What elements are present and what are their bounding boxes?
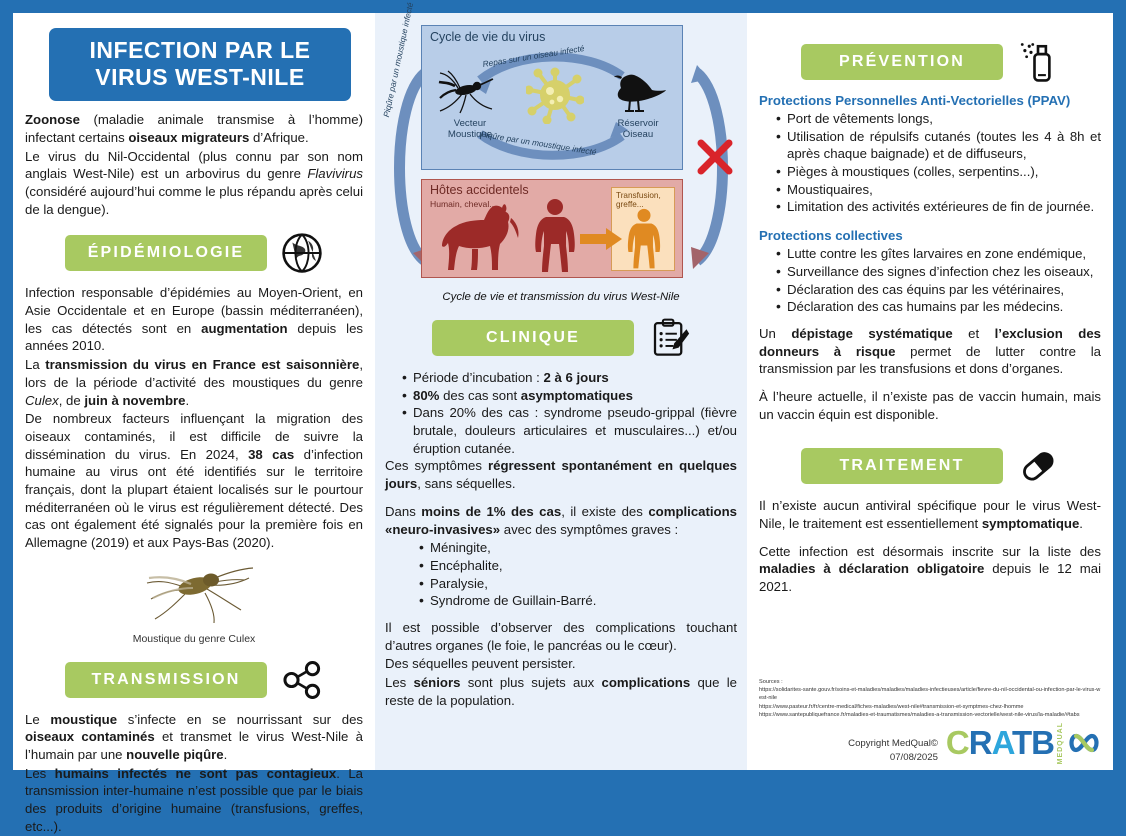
epidemiologie-paragraph-1: Infection responsable d’épidémies au Moy… <box>25 284 363 355</box>
complication-item: Syndrome de Guillain-Barré. <box>419 592 737 610</box>
epi-text-3: La <box>25 357 45 372</box>
collective-item: Surveillance des signes d’infection chez… <box>776 263 1101 281</box>
traitement-paragraph-2: Cette infection est désormais inscrite s… <box>759 543 1101 596</box>
tt-text-3: Cette infection est désormais inscrite s… <box>759 544 1101 559</box>
cl-text-5: Dans <box>385 504 421 519</box>
intro-birds-bold: oiseaux migrateurs <box>128 130 249 145</box>
intro-text-4: (considéré aujourd’hui comme le plus rép… <box>25 184 363 217</box>
cl-seniors-bold: séniors <box>414 675 461 690</box>
complication-item: Encéphalite, <box>419 557 737 575</box>
cl-complications-bold: complications <box>602 675 691 690</box>
epi-augmentation-bold: augmentation <box>201 321 287 336</box>
transfusion-label-line1: Transfusion, <box>616 191 661 200</box>
cl-text-3: Ces symptômes <box>385 458 488 473</box>
ppav-item: Pièges à moustiques (colles, serpentins.… <box>776 163 1101 181</box>
tr-piqure-bold: nouvelle piqûre <box>126 747 223 762</box>
spacer <box>759 216 1101 225</box>
cl-text-9: sont plus sujets aux <box>460 675 601 690</box>
complications-list: Méningite, Encéphalite, Paralysie, Syndr… <box>385 539 737 610</box>
clinique-paragraph-4: Des séquelles peuvent persister. <box>385 655 737 673</box>
right-column: PRÉVENTION Protections Personnelles Anti… <box>747 13 1113 770</box>
mosquito-silhouette-icon <box>436 68 494 114</box>
clinique-bullet-2: 80% des cas sont asymptomatiques <box>402 387 737 405</box>
hosts-title: Hôtes accidentels <box>430 183 529 197</box>
cl-text-4: , sans séquelles. <box>417 476 515 491</box>
cl-text-8: Les <box>385 675 414 690</box>
vector-label: Vecteur Moustique <box>432 118 508 140</box>
ppav-item: Utilisation de répulsifs cutanés (toutes… <box>776 128 1101 163</box>
clinique-bullet-3: Dans 20% des cas : syndrome pseudo-gripp… <box>402 404 737 457</box>
spray-icon <box>1017 41 1059 83</box>
intro-paragraph-2: Le virus du Nil-Occidental (plus connu p… <box>25 148 363 219</box>
tr-moustique-bold: moustique <box>50 712 117 727</box>
cl-80pct-bold: 80% <box>413 388 439 403</box>
epidemiologie-paragraph-3: De nombreux facteurs influençant la migr… <box>25 410 363 552</box>
copyright-date: 07/08/2025 <box>759 751 938 764</box>
transmission-banner: TRANSMISSION <box>65 662 267 698</box>
clinique-header: CLINIQUE <box>385 317 737 359</box>
traitement-paragraph-1: Il n’existe aucun antiviral spécifique p… <box>759 497 1101 532</box>
tt-declaration-bold: maladies à déclaration obligatoire <box>759 561 984 576</box>
collective-item: Déclaration des cas équins par les vétér… <box>776 281 1101 299</box>
epi-saison-bold: transmission du virus en France est sais… <box>45 357 359 372</box>
clipboard-icon <box>648 317 690 359</box>
sources-block: Sources : https://solidarites-sante.gouv… <box>759 678 1101 720</box>
bird-silhouette-icon <box>612 70 668 114</box>
poster-frame: INFECTION PAR LE VIRUS WEST-NILE Zoonose… <box>13 13 1113 770</box>
copyright-block: Copyright MedQual© 07/08/2025 <box>759 737 946 764</box>
left-column: INFECTION PAR LE VIRUS WEST-NILE Zoonose… <box>13 13 375 770</box>
cycle-title: Cycle de vie du virus <box>430 30 545 44</box>
complication-item: Paralysie, <box>419 575 737 593</box>
epi-text-5: , de <box>59 393 85 408</box>
transfusion-arrow <box>580 228 622 250</box>
tr-oiseaux-bold: oiseaux contaminés <box>25 729 155 744</box>
tr-text-5: Les <box>25 766 55 781</box>
epi-juin-novembre-bold: juin à novembre <box>84 393 185 408</box>
hosts-box: Hôtes accidentels Humain, cheval... <box>421 179 683 278</box>
source-url[interactable]: https://www.santepubliquefrance.fr/malad… <box>759 711 1101 719</box>
pv-text-1: Un <box>759 326 791 341</box>
collective-list: Lutte contre les gîtes larvaires en zone… <box>759 245 1101 316</box>
prevention-paragraph-1: Un dépistage systématique et l’exclusion… <box>759 325 1101 378</box>
logo-letter-a: A <box>992 724 1012 761</box>
vector-label-line2: Moustique <box>432 129 508 140</box>
epidemiologie-banner: ÉPIDÉMIOLOGIE <box>65 235 267 271</box>
red-x-icon <box>697 139 733 175</box>
clinique-paragraph-3: Il est possible d’observer des complicat… <box>385 619 737 654</box>
clinique-bullet-1: Période d’incubation : 2 à 6 jours <box>402 369 737 387</box>
prevention-paragraph-2: À l’heure actuelle, il n’existe pas de v… <box>759 388 1101 423</box>
cl-text-6: , il existe des <box>561 504 648 519</box>
globe-icon <box>281 232 323 274</box>
reservoir-label: Réservoir Oiseau <box>600 118 676 140</box>
clinique-paragraph-1: Ces symptômes régressent spontanément en… <box>385 457 737 492</box>
spacer <box>385 610 737 619</box>
epi-38cas-bold: 38 cas <box>248 447 294 462</box>
spacer <box>759 379 1101 388</box>
complication-item: Méningite, <box>419 539 737 557</box>
cycle-box: Cycle de vie du virus Repas sur un oisea… <box>421 25 683 170</box>
collective-item: Déclaration des cas humains par les méde… <box>776 298 1101 316</box>
reservoir-label-line1: Réservoir <box>600 118 676 129</box>
traitement-header: TRAITEMENT <box>759 445 1101 487</box>
cl-moins1pct-bold: moins de 1% des cas <box>421 504 561 519</box>
reservoir-label-line2: Oiseau <box>600 129 676 140</box>
ppav-list: Port de vêtements longs, Utilisation de … <box>759 110 1101 216</box>
spacer <box>385 494 737 503</box>
pv-depistage-bold: dépistage systématique <box>791 326 952 341</box>
tr-contagieux-bold: humains infectés ne sont pas contagieux <box>55 766 337 781</box>
prevention-header: PRÉVENTION <box>759 41 1101 83</box>
transmission-paragraph-1: Le moustique s’infecte en se nourrissant… <box>25 711 363 764</box>
diagram-caption: Cycle de vie et transmission du virus We… <box>385 291 737 303</box>
collective-title: Protections collectives <box>759 228 1101 243</box>
ppav-title: Protections Personnelles Anti-Vectoriell… <box>759 93 1101 108</box>
cl-text-2: des cas sont <box>439 388 520 403</box>
clinique-paragraph-2: Dans moins de 1% des cas, il existe des … <box>385 503 737 538</box>
cl-text-1: Période d’incubation : <box>413 370 544 385</box>
cl-text-7: avec des symptômes graves : <box>500 522 678 537</box>
transmission-header: TRANSMISSION <box>25 659 363 701</box>
flavivirus-italic: Flavivirus <box>307 166 363 181</box>
sources-label: Sources : <box>759 678 1101 686</box>
horse-silhouette-icon <box>436 202 528 274</box>
mosquito-photo-block: Moustique du genre Culex <box>25 556 363 645</box>
copyright-text: Copyright MedQual© <box>759 737 938 750</box>
cl-asympt-bold: asymptomatiques <box>521 388 633 403</box>
tt-symptomatique-bold: symptomatique <box>982 516 1079 531</box>
logo-letter-c: C <box>946 724 969 761</box>
ppav-item: Port de vêtements longs, <box>776 110 1101 128</box>
collective-item: Lutte contre les gîtes larvaires en zone… <box>776 245 1101 263</box>
clinique-paragraph-5: Les séniors sont plus sujets aux complic… <box>385 674 737 709</box>
mosquito-caption: Moustique du genre Culex <box>25 633 363 645</box>
ppav-item: Limitation des activités extérieures de … <box>776 198 1101 216</box>
intro-paragraph-1: Zoonose (maladie animale transmise à l’h… <box>25 111 363 146</box>
cl-incubation-bold: 2 à 6 jours <box>544 370 609 385</box>
transmission-paragraph-2: Les humains infectés ne sont pas contagi… <box>25 765 363 836</box>
epi-text-8: d’infection humaine au virus ont été ide… <box>25 447 363 550</box>
cratb-logo: CRATB MEDQUAL <box>946 722 1101 764</box>
human-silhouette-red-icon <box>532 198 578 274</box>
clinique-banner: CLINIQUE <box>432 320 634 356</box>
epi-text-6: . <box>186 393 190 408</box>
human-silhouette-orange-icon <box>624 208 664 270</box>
ppav-item: Moustiquaires, <box>776 181 1101 199</box>
source-url[interactable]: https://www.pasteur.fr/fr/centre-medical… <box>759 703 1101 711</box>
spacer <box>759 534 1101 543</box>
clinique-bullets: Période d’incubation : 2 à 6 jours 80% d… <box>385 369 737 457</box>
pv-text-2: et <box>953 326 995 341</box>
intro-zoonose-bold: Zoonose <box>25 112 80 127</box>
logo-letter-r: R <box>969 724 992 761</box>
tr-text-4: . <box>224 747 228 762</box>
logo-medqual-text: MEDQUAL <box>1057 722 1064 764</box>
tt-text-2: . <box>1079 516 1083 531</box>
virus-lifecycle-diagram: Piqûre par un moustique infecté Cycle de… <box>385 21 737 303</box>
tr-text-2: s’infecte en se nourrissant sur des <box>117 712 363 727</box>
spacer <box>759 316 1101 325</box>
intro-text-2: d’Afrique. <box>249 130 308 145</box>
share-icon <box>281 659 323 701</box>
epidemiologie-paragraph-2: La transmission du virus en France est s… <box>25 356 363 409</box>
source-url[interactable]: https://solidarites-sante.gouv.fr/soins-… <box>759 686 1101 703</box>
medqual-knot-icon <box>1067 727 1101 759</box>
footer: Sources : https://solidarites-sante.gouv… <box>759 674 1101 764</box>
mosquito-photo <box>119 556 269 628</box>
logo-letter-t: T <box>1012 724 1031 761</box>
traitement-banner: TRAITEMENT <box>801 448 1003 484</box>
tr-text-1: Le <box>25 712 50 727</box>
vector-label-line1: Vecteur <box>432 118 508 129</box>
page-title: INFECTION PAR LE VIRUS WEST-NILE <box>49 28 351 101</box>
pill-icon <box>1017 445 1059 487</box>
virus-particle-icon <box>526 66 584 124</box>
logo-letter-b: B <box>1031 724 1054 761</box>
epidemiologie-header: ÉPIDÉMIOLOGIE <box>25 232 363 274</box>
middle-column: Piqûre par un moustique infecté Cycle de… <box>375 13 747 770</box>
prevention-banner: PRÉVENTION <box>801 44 1003 80</box>
culex-italic: Culex <box>25 393 59 408</box>
